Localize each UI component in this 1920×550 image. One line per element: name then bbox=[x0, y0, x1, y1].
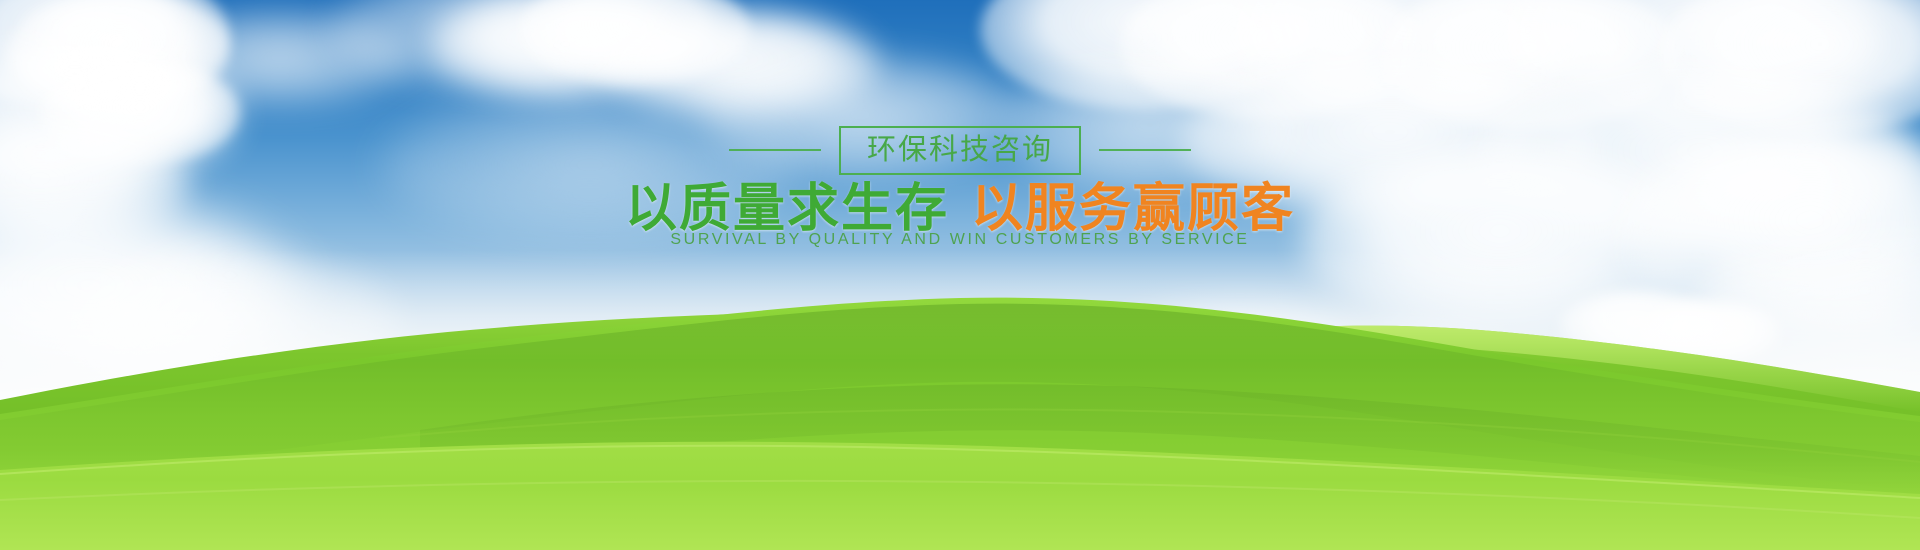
headline-part-green: 以质量求生存 bbox=[625, 179, 949, 239]
headline-part-orange: 以服务赢顾客 bbox=[971, 179, 1295, 239]
eyebrow-box: 环保科技咨询 bbox=[839, 126, 1081, 175]
eyebrow-row: 环保科技咨询 bbox=[0, 122, 1920, 178]
eyebrow-label: 环保科技咨询 bbox=[867, 132, 1053, 166]
left-rule-decoration bbox=[729, 149, 821, 151]
right-rule-decoration bbox=[1099, 149, 1191, 151]
hero-banner: 环保科技咨询 以质量求生存以服务赢顾客 SURVIVAL BY QUALITY … bbox=[0, 0, 1920, 550]
subtitle: SURVIVAL BY QUALITY AND WIN CUSTOMERS BY… bbox=[0, 231, 1920, 249]
